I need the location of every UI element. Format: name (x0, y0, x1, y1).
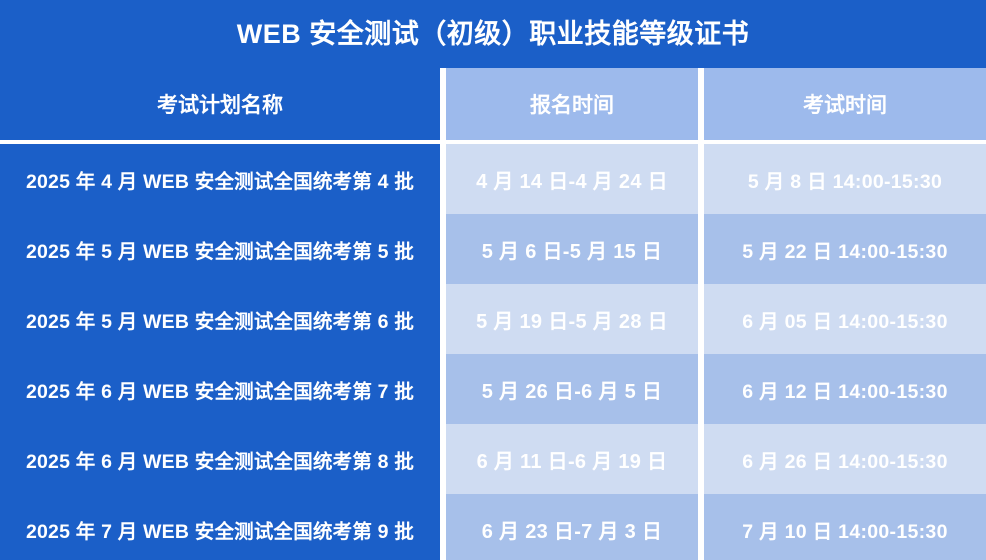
cell-plan-name: 2025 年 6 月 WEB 安全测试全国统考第 8 批 (0, 424, 440, 494)
exam-time-text: 6 月 05 日 14:00-15:30 (742, 305, 947, 334)
table-row: 2025 年 5 月 WEB 安全测试全国统考第 6 批 5 月 19 日-5 … (0, 284, 986, 354)
exam-schedule-card: WEB 安全测试（初级）职业技能等级证书 考试计划名称 报名时间 考试时间 20… (0, 0, 986, 560)
table-row: 2025 年 5 月 WEB 安全测试全国统考第 5 批 5 月 6 日-5 月… (0, 214, 986, 284)
cell-plan-name: 2025 年 4 月 WEB 安全测试全国统考第 4 批 (0, 144, 440, 214)
cell-plan-name: 2025 年 6 月 WEB 安全测试全国统考第 7 批 (0, 354, 440, 424)
exam-time-text: 7 月 10 日 14:00-15:30 (742, 515, 947, 544)
exam-time-text: 5 月 8 日 14:00-15:30 (748, 165, 942, 194)
exam-schedule-table: 考试计划名称 报名时间 考试时间 2025 年 4 月 WEB 安全测试全国统考… (0, 68, 986, 560)
cell-registration-time: 5 月 19 日-5 月 28 日 (446, 284, 698, 354)
table-row: 2025 年 6 月 WEB 安全测试全国统考第 7 批 5 月 26 日-6 … (0, 354, 986, 424)
exam-time-text: 6 月 26 日 14:00-15:30 (742, 445, 947, 474)
registration-time-text: 5 月 19 日-5 月 28 日 (476, 305, 668, 334)
table-header-row: 考试计划名称 报名时间 考试时间 (0, 68, 986, 140)
title-banner: WEB 安全测试（初级）职业技能等级证书 (0, 0, 986, 68)
cell-exam-time: 6 月 12 日 14:00-15:30 (704, 354, 986, 424)
table-row: 2025 年 4 月 WEB 安全测试全国统考第 4 批 4 月 14 日-4 … (0, 144, 986, 214)
registration-time-text: 4 月 14 日-4 月 24 日 (476, 165, 668, 194)
cell-plan-name: 2025 年 5 月 WEB 安全测试全国统考第 6 批 (0, 284, 440, 354)
exam-time-text: 6 月 12 日 14:00-15:30 (742, 375, 947, 404)
cell-exam-time: 7 月 10 日 14:00-15:30 (704, 494, 986, 560)
cell-registration-time: 5 月 26 日-6 月 5 日 (446, 354, 698, 424)
cell-exam-time: 5 月 22 日 14:00-15:30 (704, 214, 986, 284)
registration-time-text: 5 月 6 日-5 月 15 日 (482, 235, 662, 264)
cell-plan-name: 2025 年 5 月 WEB 安全测试全国统考第 5 批 (0, 214, 440, 284)
registration-time-text: 5 月 26 日-6 月 5 日 (482, 375, 662, 404)
column-header-plan: 考试计划名称 (0, 68, 440, 140)
exam-time-text: 5 月 22 日 14:00-15:30 (742, 235, 947, 264)
page-title: WEB 安全测试（初级）职业技能等级证书 (237, 21, 750, 48)
cell-plan-name: 2025 年 7 月 WEB 安全测试全国统考第 9 批 (0, 494, 440, 560)
column-header-exam: 考试时间 (704, 68, 986, 140)
column-header-registration: 报名时间 (446, 68, 698, 140)
cell-exam-time: 6 月 05 日 14:00-15:30 (704, 284, 986, 354)
cell-registration-time: 6 月 11 日-6 月 19 日 (446, 424, 698, 494)
table-row: 2025 年 6 月 WEB 安全测试全国统考第 8 批 6 月 11 日-6 … (0, 424, 986, 494)
table-row: 2025 年 7 月 WEB 安全测试全国统考第 9 批 6 月 23 日-7 … (0, 494, 986, 560)
cell-exam-time: 5 月 8 日 14:00-15:30 (704, 144, 986, 214)
registration-time-text: 6 月 11 日-6 月 19 日 (477, 445, 668, 474)
cell-exam-time: 6 月 26 日 14:00-15:30 (704, 424, 986, 494)
registration-time-text: 6 月 23 日-7 月 3 日 (482, 515, 662, 544)
cell-registration-time: 5 月 6 日-5 月 15 日 (446, 214, 698, 284)
cell-registration-time: 4 月 14 日-4 月 24 日 (446, 144, 698, 214)
cell-registration-time: 6 月 23 日-7 月 3 日 (446, 494, 698, 560)
